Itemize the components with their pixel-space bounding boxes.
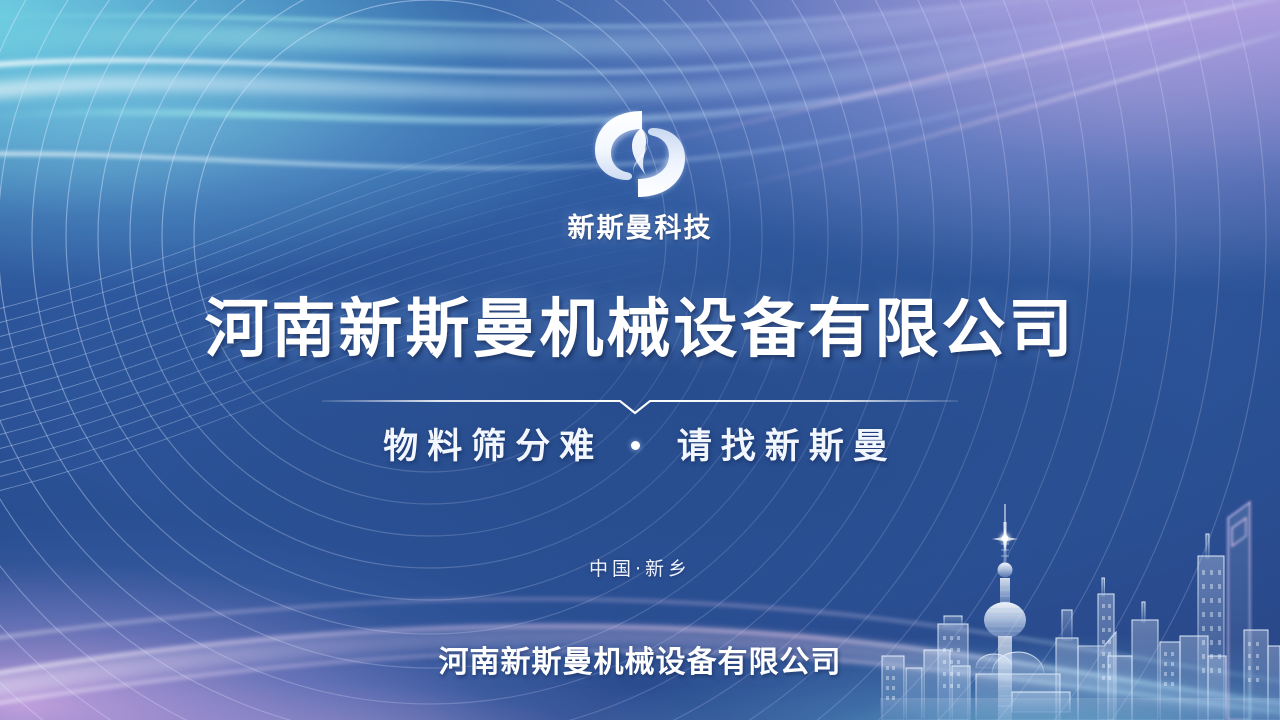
brand-logo: 新斯曼科技 bbox=[0, 108, 1280, 245]
logo-wordmark: 新斯曼科技 bbox=[568, 206, 713, 245]
location-label: 中国·新乡 bbox=[0, 554, 1280, 581]
swirl-s-monogram-icon bbox=[582, 108, 698, 200]
slogan-left: 物料筛分难 bbox=[383, 427, 603, 467]
slide-canvas: 新斯曼科技 河南新斯曼机械设备有限公司 物料 bbox=[0, 0, 1280, 720]
oriental-pearl-tower-icon bbox=[984, 504, 1026, 720]
slogan-separator-dot bbox=[631, 441, 640, 450]
city-skyline-silhouette bbox=[880, 460, 1280, 720]
slogan-right: 请找新斯曼 bbox=[677, 427, 897, 467]
footer-caption: 河南新斯曼机械设备有限公司 bbox=[0, 637, 1280, 681]
slogan: 物料筛分难 请找新斯曼 bbox=[0, 430, 1280, 465]
company-title: 河南新斯曼机械设备有限公司 bbox=[0, 298, 1280, 362]
chevron-notch-divider bbox=[320, 392, 960, 422]
